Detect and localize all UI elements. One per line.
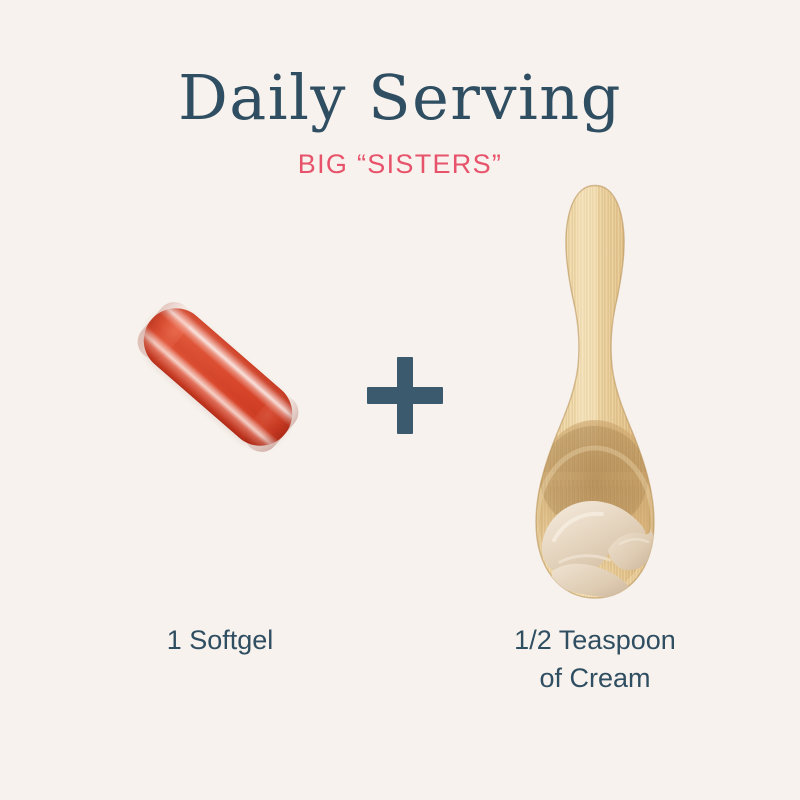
capsule-right-tip	[238, 388, 306, 459]
cream-caption-line-2: of Cream	[455, 659, 735, 697]
daily-serving-infographic: Daily Serving BIG “SISTERS”	[0, 0, 800, 800]
wooden-spoon-with-cream-icon	[520, 178, 670, 608]
softgel-illustration	[128, 318, 303, 473]
capsule-left-tip	[131, 295, 199, 366]
page-subtitle: BIG “SISTERS”	[0, 148, 800, 180]
softgel-caption: 1 Softgel	[80, 621, 360, 659]
red-softgel-capsule-icon	[131, 295, 306, 459]
spoon-svg	[520, 178, 670, 608]
plus-icon	[367, 357, 443, 434]
plus-vertical-bar	[397, 357, 413, 434]
softgel-caption-line: 1 Softgel	[80, 621, 360, 659]
cream-caption: 1/2 Teaspoon of Cream	[455, 621, 735, 697]
cream-caption-line-1: 1/2 Teaspoon	[455, 621, 735, 659]
page-title: Daily Serving	[0, 62, 800, 134]
